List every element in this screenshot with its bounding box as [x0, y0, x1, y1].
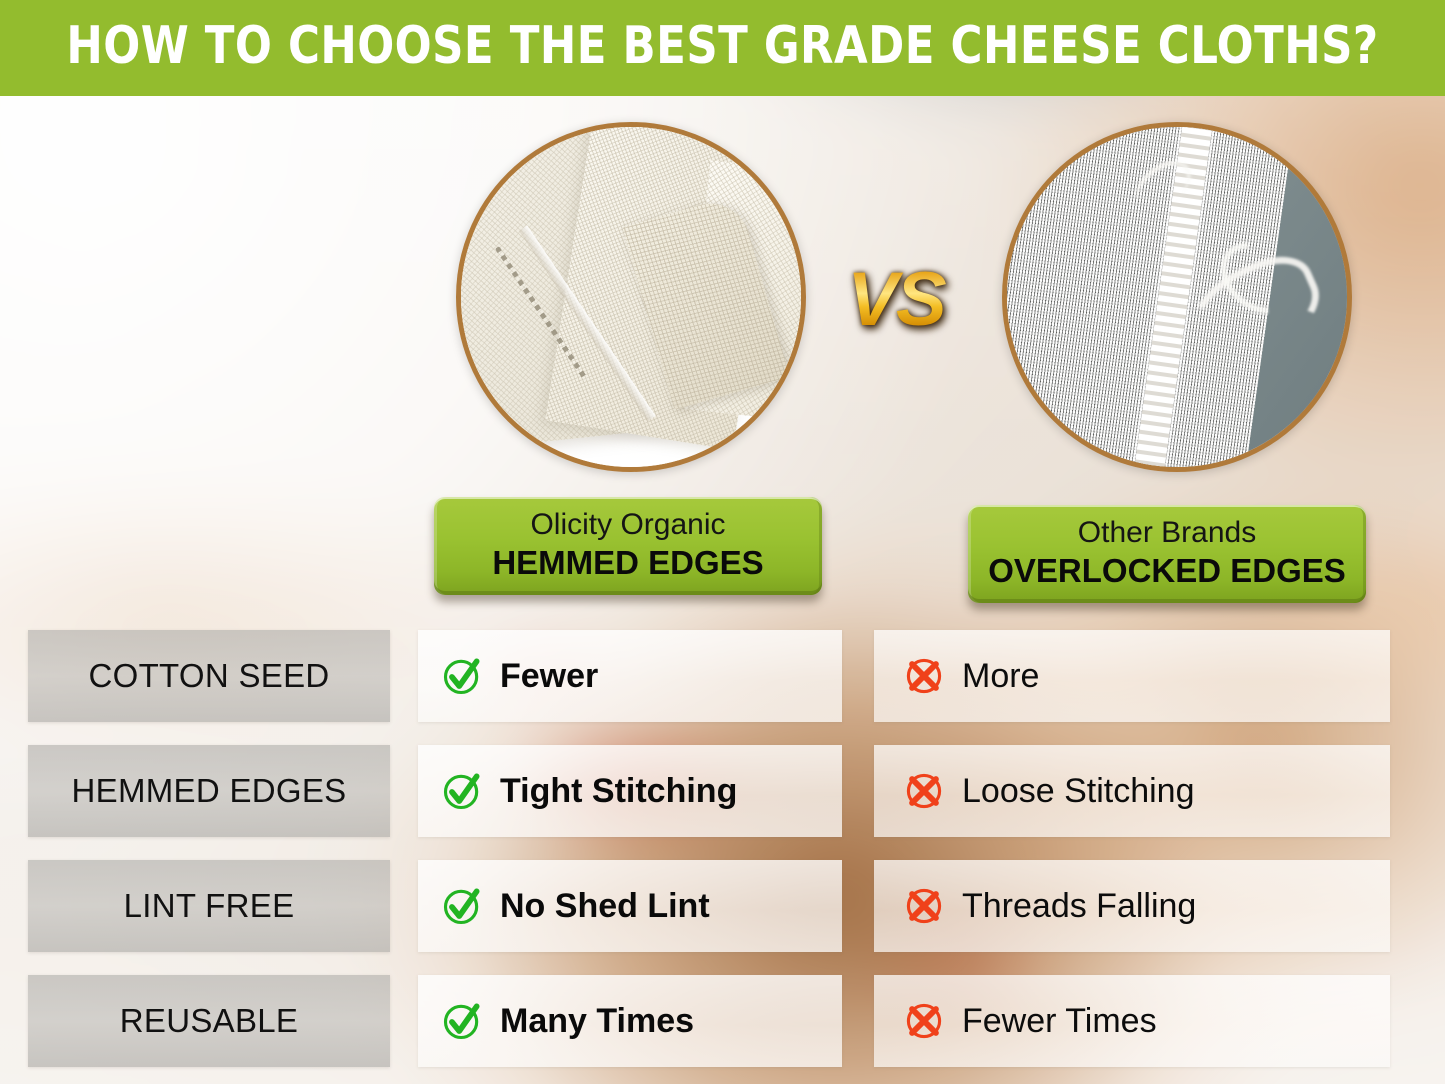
cross-circle-icon	[902, 654, 946, 698]
olicity-cell: Fewer	[418, 630, 842, 722]
olicity-label-plate: Olicity Organic HEMMED EDGES	[434, 497, 822, 595]
feature-label: REUSABLE	[120, 1002, 298, 1040]
cheesecloth-comparison-infographic: HOW TO CHOOSE THE BEST GRADE CHEESE CLOT…	[0, 0, 1445, 1084]
table-row: REUSABLE Many Times Fewer Times	[0, 975, 1445, 1067]
table-row: COTTON SEED Fewer More	[0, 630, 1445, 722]
olicity-cell: Many Times	[418, 975, 842, 1067]
check-circle-icon	[440, 999, 484, 1043]
feature-cell: LINT FREE	[28, 860, 390, 952]
other-brands-cell: Fewer Times	[874, 975, 1390, 1067]
olicity-edge-line: HEMMED EDGES	[434, 543, 822, 583]
feature-cell: HEMMED EDGES	[28, 745, 390, 837]
check-circle-icon	[440, 654, 484, 698]
vs-badge: VS	[836, 258, 956, 342]
other-brands-edge-line: OVERLOCKED EDGES	[968, 551, 1366, 591]
other-brands-line: Other Brands	[968, 515, 1366, 551]
feature-cell: REUSABLE	[28, 975, 390, 1067]
other-brands-value: Threads Falling	[962, 887, 1196, 926]
cross-circle-icon	[902, 884, 946, 928]
olicity-brand-line: Olicity Organic	[434, 507, 822, 543]
olicity-cell: Tight Stitching	[418, 745, 842, 837]
cross-circle-icon	[902, 999, 946, 1043]
feature-label: COTTON SEED	[88, 657, 329, 695]
other-brands-label-plate: Other Brands OVERLOCKED EDGES	[968, 505, 1366, 603]
other-brands-cell: More	[874, 630, 1390, 722]
other-brands-cell: Threads Falling	[874, 860, 1390, 952]
feature-cell: COTTON SEED	[28, 630, 390, 722]
olicity-value: Many Times	[500, 1002, 694, 1041]
check-circle-icon	[440, 769, 484, 813]
table-row: HEMMED EDGES Tight Stitching Loose Stitc…	[0, 745, 1445, 837]
cross-circle-icon	[902, 769, 946, 813]
olicity-value: Tight Stitching	[500, 772, 737, 811]
other-brands-value: Fewer Times	[962, 1002, 1157, 1041]
feature-label: LINT FREE	[124, 887, 295, 925]
table-row: LINT FREE No Shed Lint Threads Falling	[0, 860, 1445, 952]
check-circle-icon	[440, 884, 484, 928]
other-brands-cell: Loose Stitching	[874, 745, 1390, 837]
feature-label: HEMMED EDGES	[72, 772, 347, 810]
other-brands-value: Loose Stitching	[962, 772, 1195, 811]
olicity-value: Fewer	[500, 657, 598, 696]
olicity-cell: No Shed Lint	[418, 860, 842, 952]
olicity-value: No Shed Lint	[500, 887, 710, 926]
other-brands-value: More	[962, 657, 1039, 696]
